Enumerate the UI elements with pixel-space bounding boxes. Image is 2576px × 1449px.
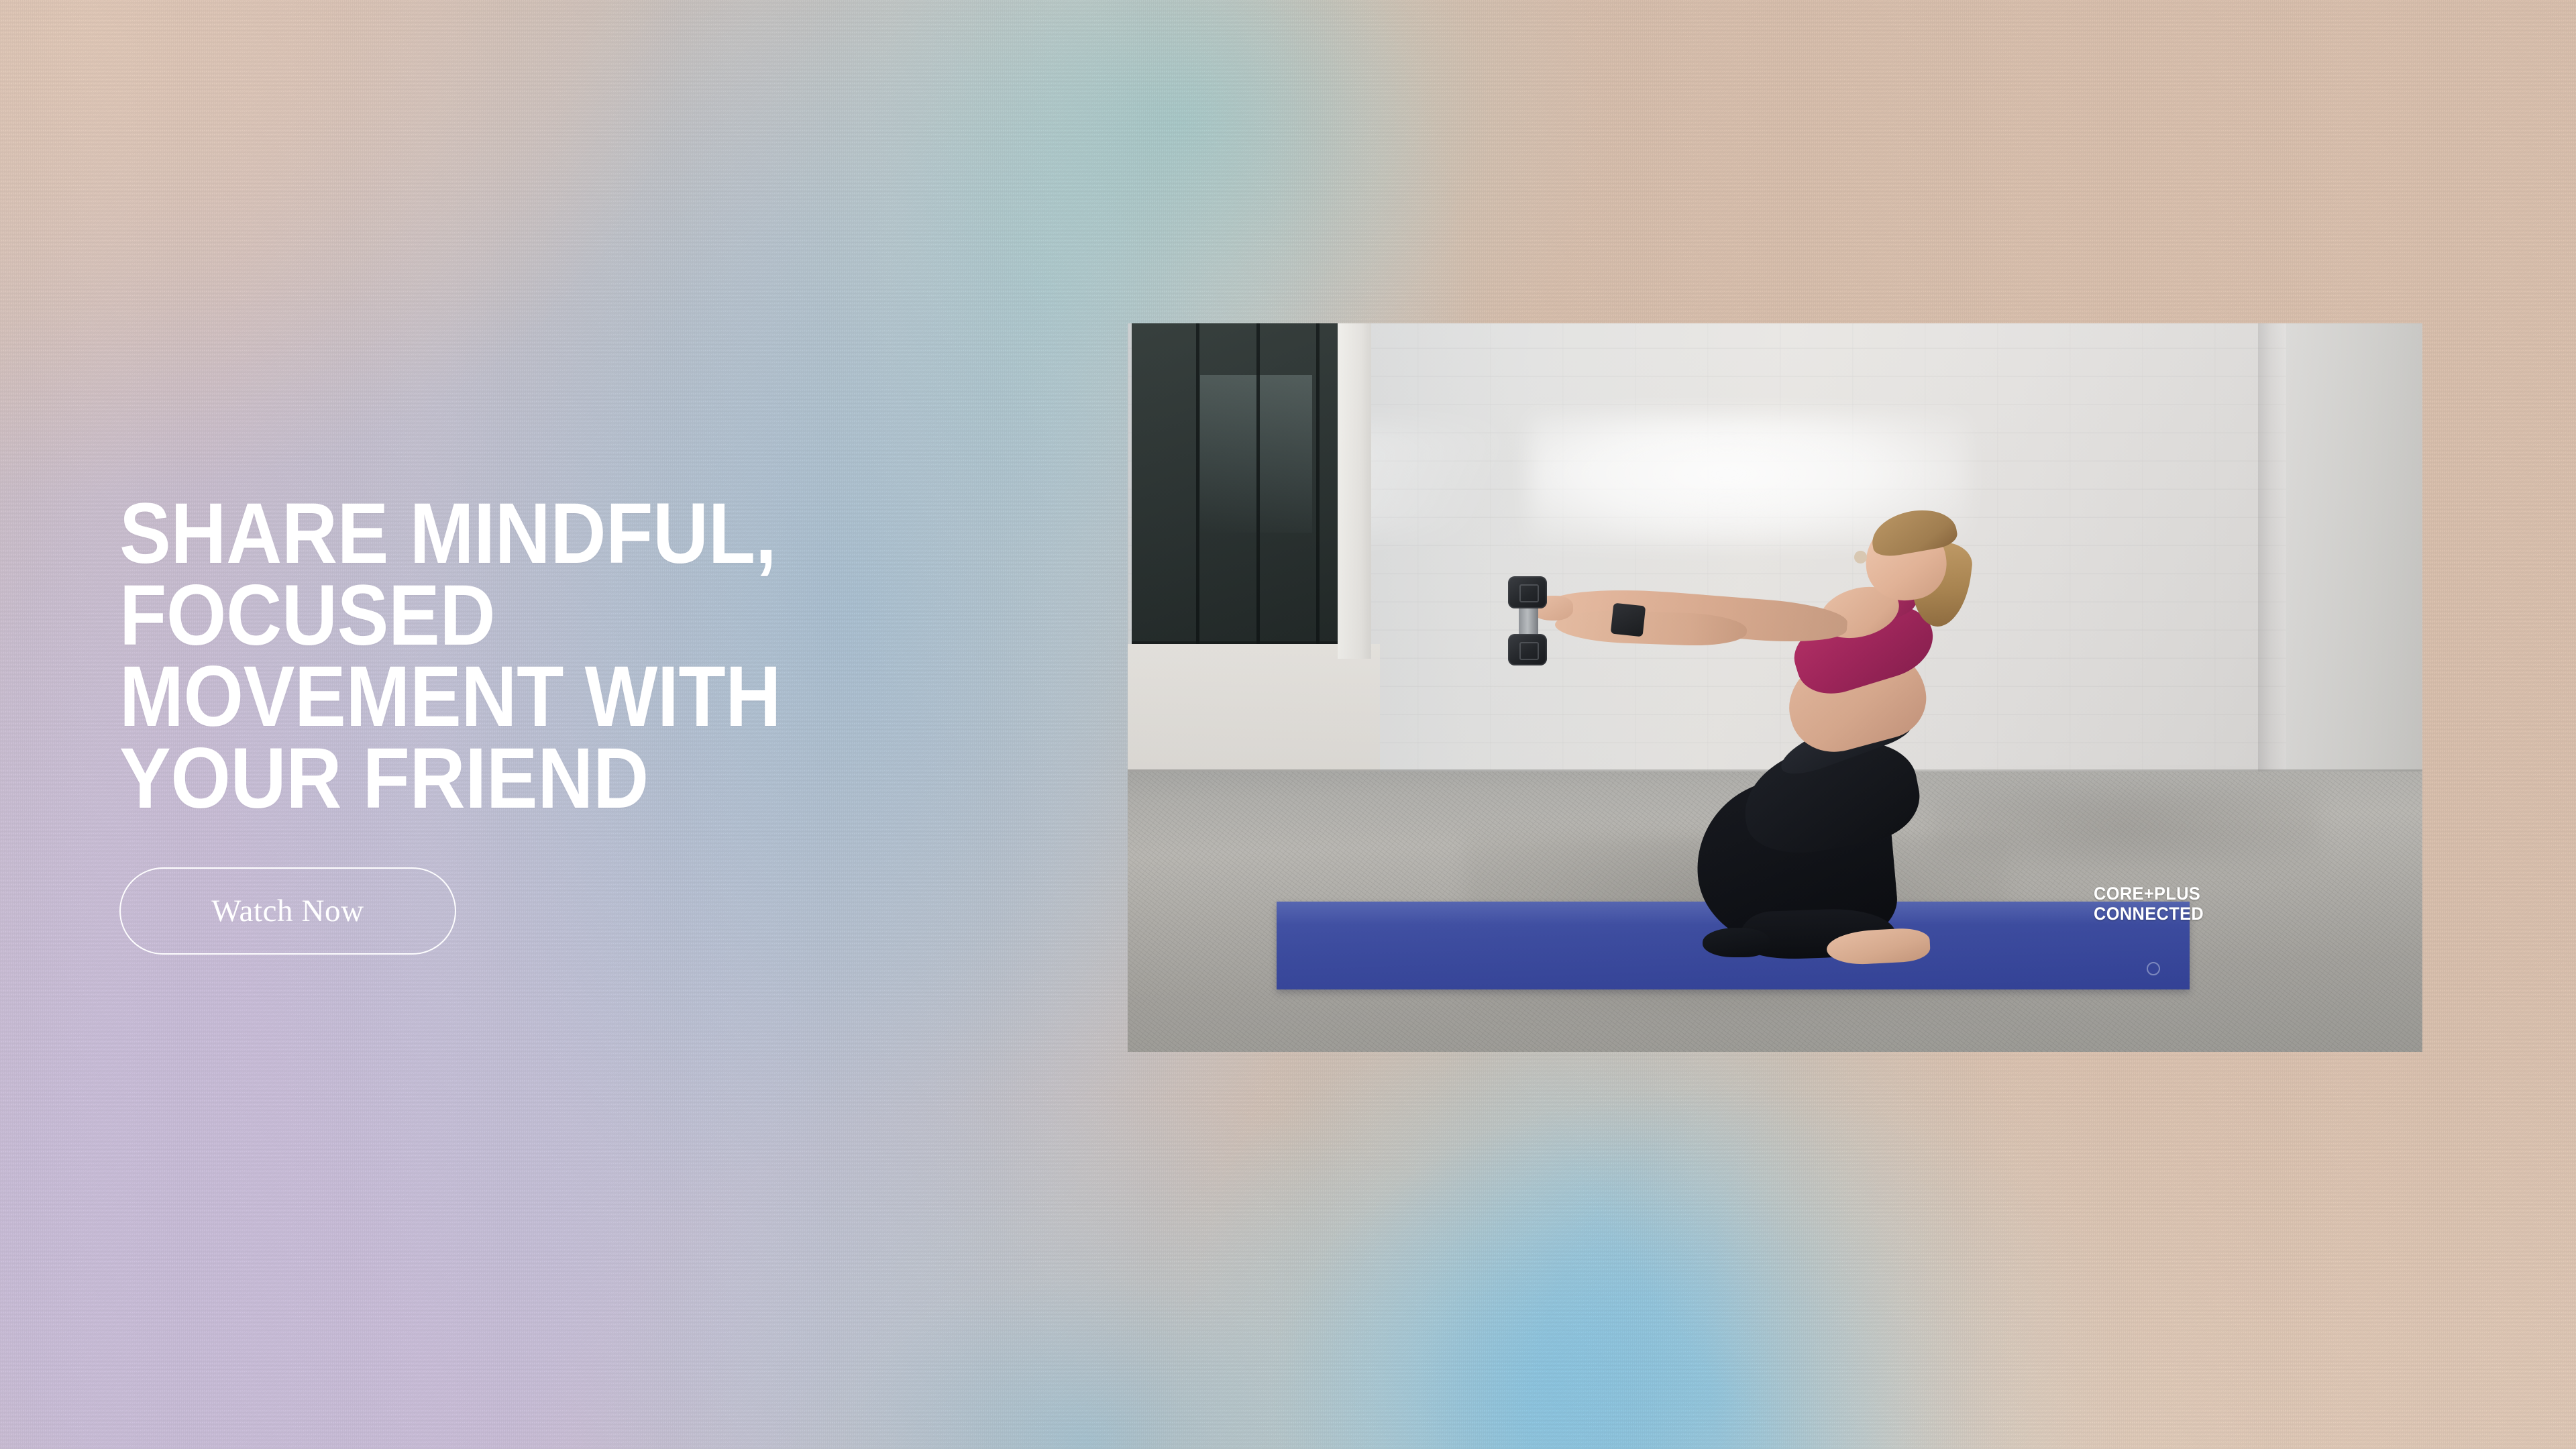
watch-now-button[interactable]: Watch Now bbox=[119, 867, 456, 955]
knee bbox=[1703, 928, 1770, 957]
core-plus-connected-logo: CORE+PLUS CONNECTED bbox=[2094, 884, 2204, 924]
dumbbell-plate-detail bbox=[1519, 584, 1539, 602]
cta-container: Watch Now bbox=[119, 867, 1072, 955]
headset-microphone bbox=[1854, 551, 1867, 564]
hero-copy-block: SHARE MINDFUL, FOCUSED MOVEMENT WITH YOU… bbox=[119, 493, 1072, 955]
video-still-image bbox=[1128, 323, 2422, 1052]
dumbbell-weight-head bbox=[1508, 576, 1547, 608]
page-title: SHARE MINDFUL, FOCUSED MOVEMENT WITH YOU… bbox=[119, 493, 977, 819]
dumbbell-plate-detail bbox=[1519, 642, 1539, 660]
video-player[interactable]: CORE+PLUS CONNECTED bbox=[1128, 323, 2422, 1052]
smartwatch bbox=[1611, 603, 1646, 637]
hero-section: SHARE MINDFUL, FOCUSED MOVEMENT WITH YOU… bbox=[0, 0, 2576, 1449]
dumbbell-weight-head bbox=[1508, 634, 1547, 666]
instructor-figure bbox=[1128, 323, 2422, 1052]
